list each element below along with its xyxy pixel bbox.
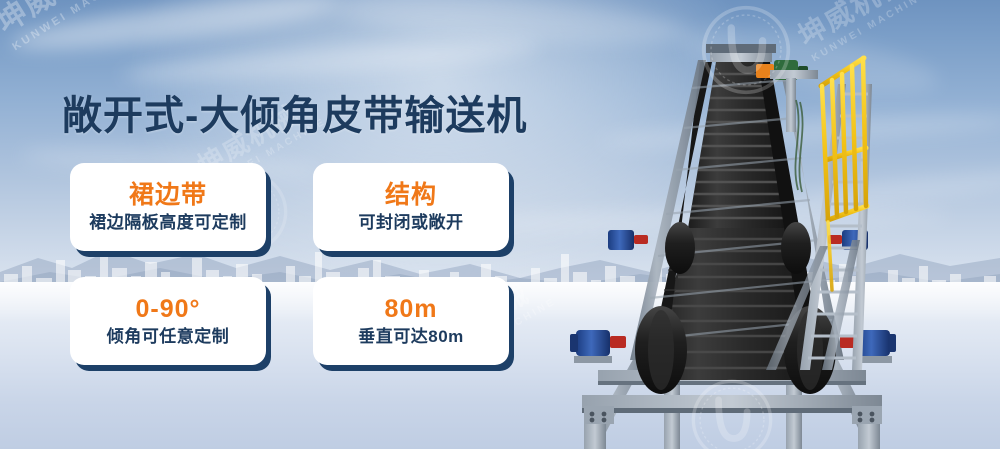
feature-card-title: 裙边带 [129,182,207,208]
banner-title: 敞开式-大倾角皮带输送机 [62,83,527,141]
feature-card[interactable]: 裙边带 裙边隔板高度可定制 [70,163,266,251]
feature-card-subtitle: 裙边隔板高度可定制 [89,214,247,233]
feature-card[interactable]: 0-90° 倾角可任意定制 [70,277,266,365]
feature-card-subtitle: 垂直可达80m [358,328,464,347]
feature-card-grid: 裙边带 裙边隔板高度可定制 结构 可封闭或敞开 0-90° 倾角可任意定制 80… [70,163,520,368]
feature-card-subtitle: 倾角可任意定制 [107,328,230,347]
feature-card[interactable]: 80m 垂直可达80m [313,277,509,365]
feature-card-subtitle: 可封闭或敞开 [359,214,464,233]
conveyor-product-image [560,40,1000,449]
feature-card-title: 结构 [385,182,437,208]
feature-card[interactable]: 结构 可封闭或敞开 [313,163,509,251]
feature-card-title: 0-90° [135,296,200,322]
product-banner: 坤威机械 KUNWEI MACHINE 坤威机械 KUNWEI MACHINE … [0,0,1000,449]
feature-card-title: 80m [384,296,437,322]
